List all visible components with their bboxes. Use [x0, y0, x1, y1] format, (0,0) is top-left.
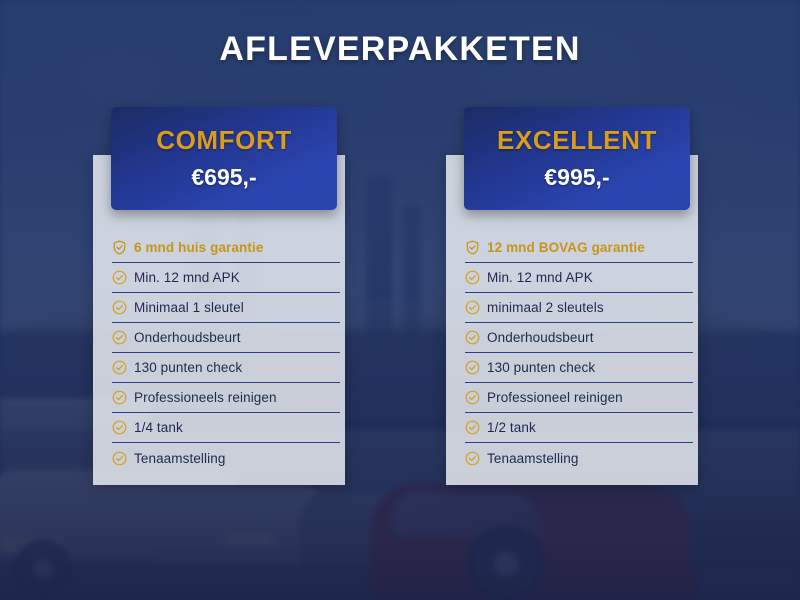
promo-banner: AFLEVERPAKKETEN 6 mnd huis garantie: [0, 0, 800, 600]
circle-check-icon: [465, 420, 480, 435]
feature-row: 1/2 tank: [465, 413, 693, 443]
feature-label: Professioneel reinigen: [487, 390, 623, 405]
feature-label: 6 mnd huis garantie: [134, 240, 263, 255]
feature-row: 130 punten check: [465, 353, 693, 383]
feature-label: 1/4 tank: [134, 420, 183, 435]
circle-check-icon: [465, 390, 480, 405]
shield-check-icon: [112, 240, 127, 255]
feature-row: 12 mnd BOVAG garantie: [465, 233, 693, 263]
circle-check-icon: [112, 330, 127, 345]
package-price: €995,-: [464, 164, 690, 191]
circle-check-icon: [112, 360, 127, 375]
circle-check-icon: [465, 300, 480, 315]
circle-check-icon: [112, 390, 127, 405]
feature-label: Minimaal 1 sleutel: [134, 300, 244, 315]
feature-row: Onderhoudsbeurt: [112, 323, 340, 353]
feature-label: Min. 12 mnd APK: [487, 270, 593, 285]
feature-row: Tenaamstelling: [465, 443, 693, 473]
feature-row: Minimaal 1 sleutel: [112, 293, 340, 323]
package-card-comfort[interactable]: 6 mnd huis garantie Min. 12 mnd APK: [93, 155, 345, 485]
feature-label: 12 mnd BOVAG garantie: [487, 240, 645, 255]
feature-label: Tenaamstelling: [487, 451, 578, 466]
feature-row: 1/4 tank: [112, 413, 340, 443]
circle-check-icon: [465, 360, 480, 375]
feature-row: Professioneel reinigen: [465, 383, 693, 413]
package-name: COMFORT: [111, 125, 337, 156]
feature-row: 6 mnd huis garantie: [112, 233, 340, 263]
page-title: AFLEVERPAKKETEN: [0, 30, 800, 69]
feature-label: Tenaamstelling: [134, 451, 225, 466]
feature-row: minimaal 2 sleutels: [465, 293, 693, 323]
circle-check-icon: [465, 451, 480, 466]
circle-check-icon: [112, 420, 127, 435]
card-header: COMFORT €695,-: [111, 107, 337, 210]
circle-check-icon: [112, 300, 127, 315]
feature-row: 130 punten check: [112, 353, 340, 383]
feature-row: Tenaamstelling: [112, 443, 340, 473]
feature-list: 6 mnd huis garantie Min. 12 mnd APK: [112, 233, 340, 473]
circle-check-icon: [465, 270, 480, 285]
circle-check-icon: [112, 270, 127, 285]
package-name: EXCELLENT: [464, 125, 690, 156]
feature-label: Min. 12 mnd APK: [134, 270, 240, 285]
feature-label: Onderhoudsbeurt: [487, 330, 594, 345]
feature-row: Min. 12 mnd APK: [465, 263, 693, 293]
feature-label: Onderhoudsbeurt: [134, 330, 241, 345]
feature-row: Professioneels reinigen: [112, 383, 340, 413]
feature-label: 1/2 tank: [487, 420, 536, 435]
feature-row: Onderhoudsbeurt: [465, 323, 693, 353]
feature-label: 130 punten check: [487, 360, 595, 375]
feature-list: 12 mnd BOVAG garantie Min. 12 mnd APK: [465, 233, 693, 473]
package-price: €695,-: [111, 164, 337, 191]
circle-check-icon: [465, 330, 480, 345]
feature-row: Min. 12 mnd APK: [112, 263, 340, 293]
shield-check-icon: [465, 240, 480, 255]
circle-check-icon: [112, 451, 127, 466]
feature-label: minimaal 2 sleutels: [487, 300, 604, 315]
feature-label: Professioneels reinigen: [134, 390, 277, 405]
feature-label: 130 punten check: [134, 360, 242, 375]
card-header: EXCELLENT €995,-: [464, 107, 690, 210]
package-card-excellent[interactable]: 12 mnd BOVAG garantie Min. 12 mnd APK: [446, 155, 698, 485]
